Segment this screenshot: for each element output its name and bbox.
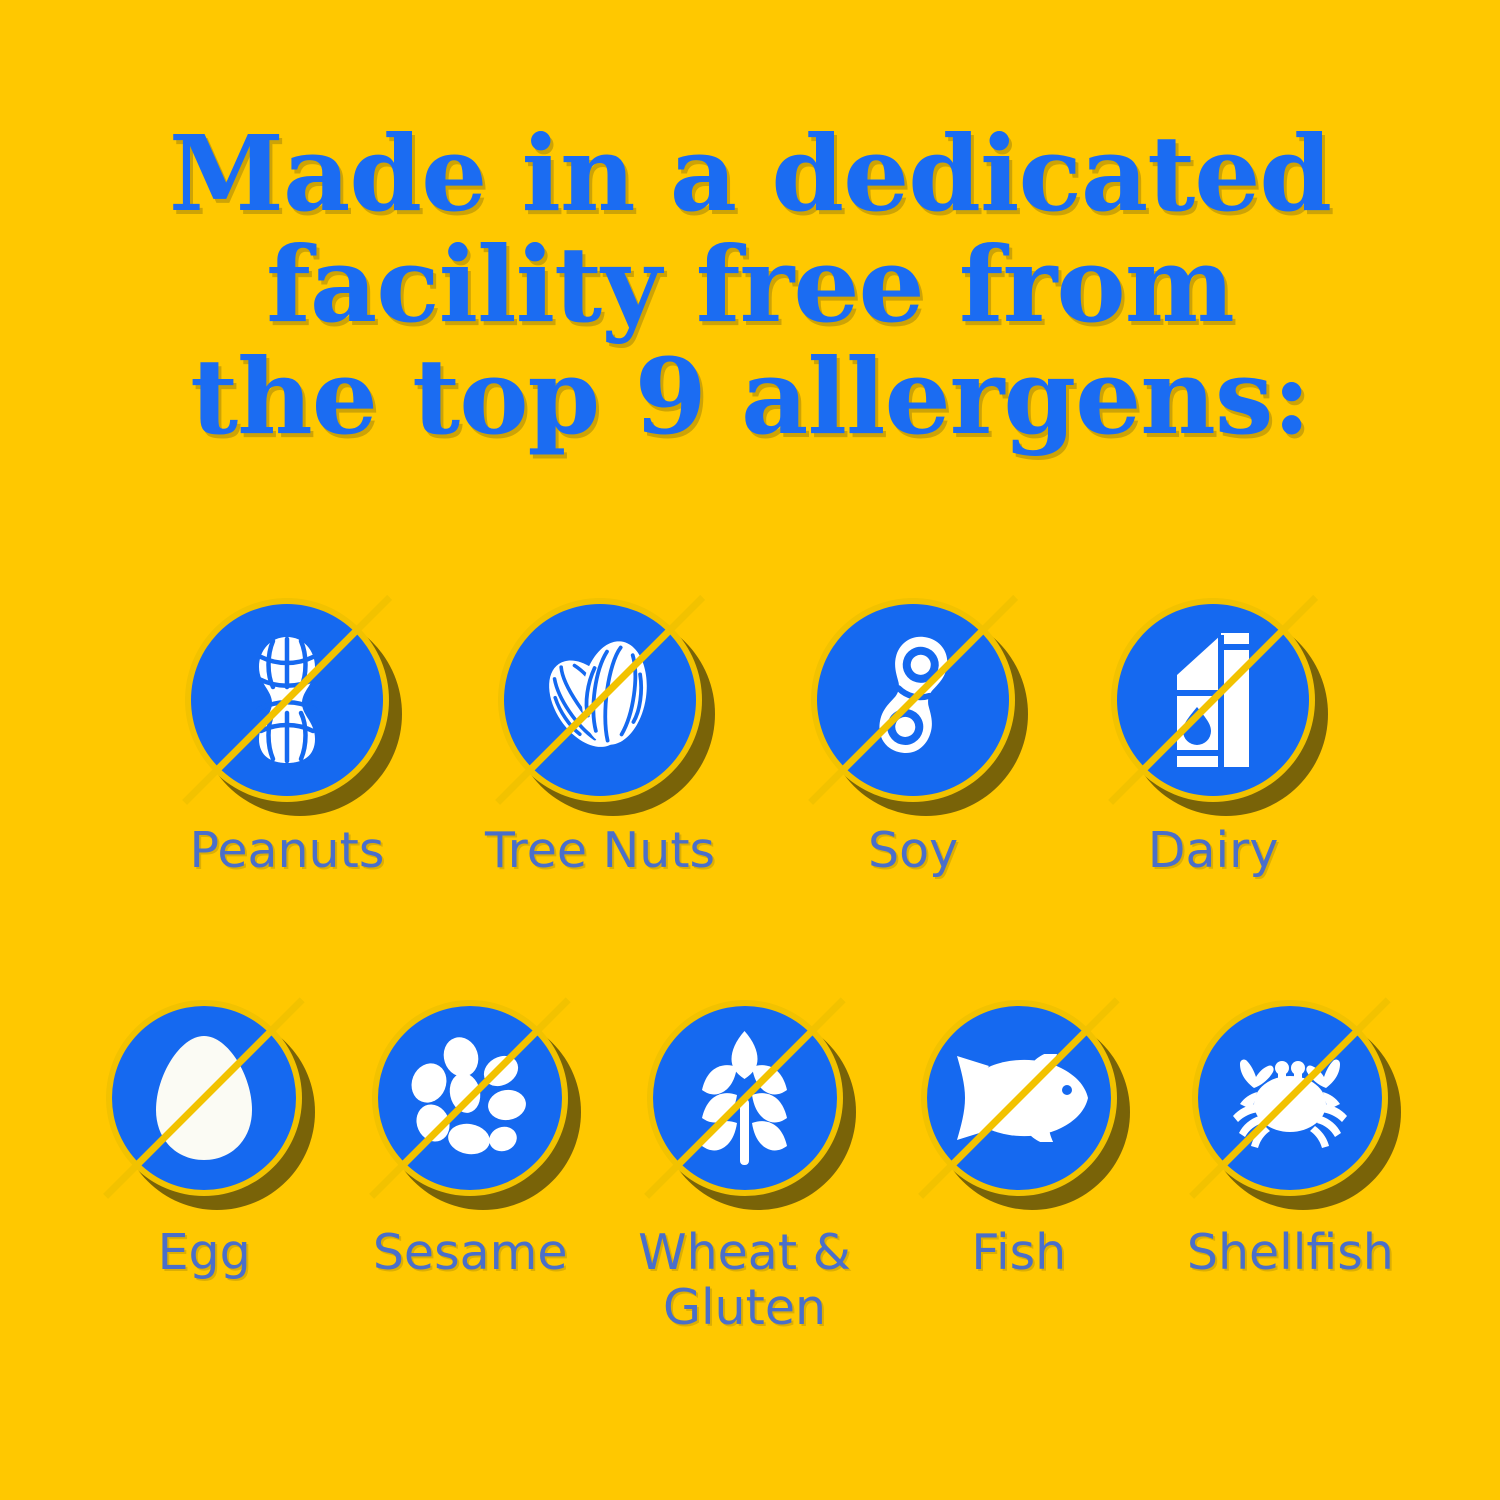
soybean-pod-icon: [817, 604, 1009, 796]
allergen-item-tree-nuts: Tree Nuts: [485, 598, 715, 879]
badge-disc: [504, 604, 696, 796]
crab-icon: [1198, 1006, 1382, 1190]
no-peanuts-badge: [185, 598, 389, 802]
allergen-item-sesame: Sesame: [372, 1000, 568, 1281]
no-tree-nuts-badge: [498, 598, 702, 802]
milk-carton-icon: [1117, 604, 1309, 796]
badge-disc: [817, 604, 1009, 796]
allergen-label: Soy: [868, 824, 958, 879]
badge-disc: [378, 1006, 562, 1190]
allergen-item-fish: Fish: [921, 1000, 1117, 1281]
allergen-label: Egg: [158, 1226, 251, 1281]
allergen-label: Dairy: [1148, 824, 1279, 879]
sesame-seeds-icon: [378, 1006, 562, 1190]
allergen-label: Fish: [971, 1226, 1066, 1281]
almond-icon: [504, 604, 696, 796]
no-fish-badge: [921, 1000, 1117, 1196]
no-wheat-badge: [647, 1000, 843, 1196]
badge-disc: [653, 1006, 837, 1190]
allergen-label: Wheat & Gluten: [638, 1226, 851, 1336]
allergen-label: Shellfish: [1187, 1226, 1394, 1281]
headline-line-2: facility free from: [0, 229, 1500, 340]
badge-disc: [1117, 604, 1309, 796]
no-soy-badge: [811, 598, 1015, 802]
page-title: Made in a dedicated facility free from t…: [0, 118, 1500, 452]
no-egg-badge: [106, 1000, 302, 1196]
allergen-item-dairy: Dairy: [1111, 598, 1315, 879]
allergen-label: Sesame: [373, 1226, 568, 1281]
allergen-label: Tree Nuts: [485, 824, 715, 879]
allergen-infographic: Made in a dedicated facility free from t…: [0, 0, 1500, 1500]
headline-line-1: Made in a dedicated: [0, 118, 1500, 229]
no-sesame-badge: [372, 1000, 568, 1196]
no-shellfish-badge: [1192, 1000, 1388, 1196]
allergen-item-egg: Egg: [106, 1000, 302, 1281]
badge-disc: [112, 1006, 296, 1190]
allergen-row-1: Peanuts: [0, 598, 1500, 879]
peanut-icon: [191, 604, 383, 796]
badge-disc: [191, 604, 383, 796]
allergen-row-2: Egg: [0, 1000, 1500, 1336]
wheat-stalk-icon: [653, 1006, 837, 1190]
allergen-label: Peanuts: [190, 824, 385, 879]
allergen-item-soy: Soy: [811, 598, 1015, 879]
fish-icon: [927, 1006, 1111, 1190]
allergen-item-wheat-gluten: Wheat & Gluten: [638, 1000, 851, 1336]
egg-icon: [112, 1006, 296, 1190]
badge-disc: [927, 1006, 1111, 1190]
allergen-item-peanuts: Peanuts: [185, 598, 389, 879]
headline-line-3: the top 9 allergens:: [0, 341, 1500, 452]
no-dairy-badge: [1111, 598, 1315, 802]
allergen-item-shellfish: Shellfish: [1187, 1000, 1394, 1281]
badge-disc: [1198, 1006, 1382, 1190]
